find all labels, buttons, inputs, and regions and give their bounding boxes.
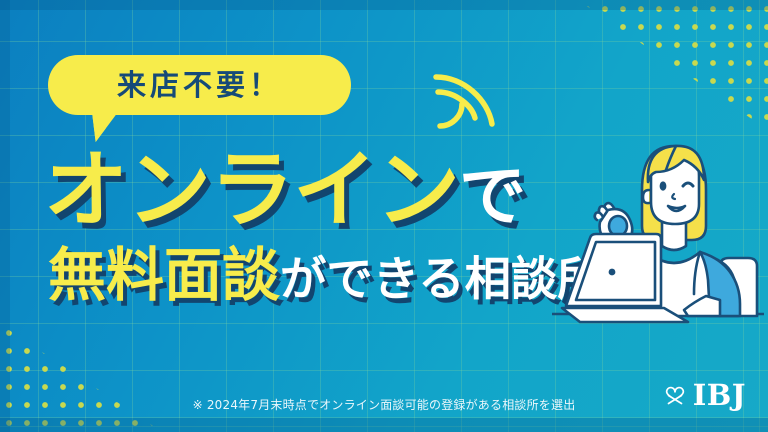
badge-speech-bubble: 来店不要！ <box>48 55 351 115</box>
headline-line-2: 無料面談ができる相談所 <box>48 246 604 304</box>
headline-line1-highlight: オンライン <box>44 141 459 239</box>
wifi-signal-icon <box>432 68 504 134</box>
footnote-text: ※ 2024年7月末時点でオンライン面談可能の登録がある相談所を選出 <box>0 396 768 413</box>
ibj-logo: IBJ <box>662 381 746 410</box>
headline-line2-highlight: 無料面談 <box>48 241 280 309</box>
illustration-woman-at-laptop <box>552 128 764 346</box>
headline-block: オンラインで 無料面談ができる相談所 <box>44 148 604 304</box>
online-consultation-banner: 来店不要！ オンラインで 無料面談ができる相談所 <box>0 0 768 432</box>
headline-line-1: オンラインで <box>44 148 604 232</box>
edge-shade-left <box>0 0 10 432</box>
heart-ribbon-icon <box>662 383 688 409</box>
edge-shade-top <box>0 0 768 10</box>
edge-shade-bottom <box>0 418 768 432</box>
ibj-logo-text: IBJ <box>693 381 746 410</box>
badge-label: 来店不要！ <box>117 71 282 100</box>
headline-line1-plain: で <box>459 157 525 235</box>
